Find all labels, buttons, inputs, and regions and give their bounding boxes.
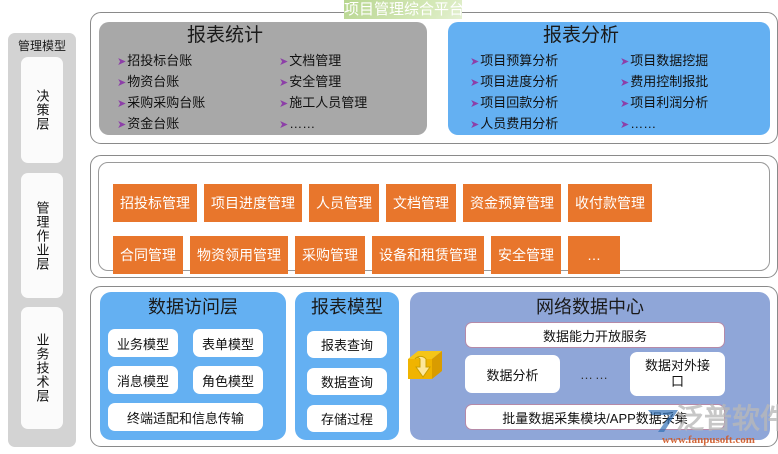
module-chip-personnel-management[interactable]: 人员管理 <box>309 184 379 222</box>
list-item-label: 项目预算分析 <box>480 50 558 71</box>
report-model-chip-data-query[interactable]: 数据查询 <box>307 368 387 395</box>
report-analysis-left-list: ➤ 项目预算分析 ➤ 项目进度分析 ➤ 项目回款分析 ➤ 人员费用分析 <box>470 50 558 134</box>
dal-chip-business-model[interactable]: 业务模型 <box>108 329 178 357</box>
list-item[interactable]: ➤ 项目利润分析 <box>620 92 708 113</box>
list-item[interactable]: ➤ 文档管理 <box>279 50 367 71</box>
sidebar-layer-decision-label: 决策层 <box>35 89 50 131</box>
list-item[interactable]: ➤ 采购采购台账 <box>117 92 205 113</box>
list-item[interactable]: ➤ 项目回款分析 <box>470 92 558 113</box>
arrow-bullet-icon: ➤ <box>470 115 479 136</box>
ndc-chip-data-capability-open-service[interactable]: 数据能力开放服务 <box>465 322 725 348</box>
module-chip-procurement-management[interactable]: 采购管理 <box>295 236 365 274</box>
list-item[interactable]: ➤ 安全管理 <box>279 71 367 92</box>
list-item-label: 项目进度分析 <box>480 71 558 92</box>
list-item-label: 项目数据挖掘 <box>630 50 708 71</box>
business-modules-row-1: 招投标管理 项目进度管理 人员管理 文档管理 资金预算管理 收付款管理 <box>113 184 652 222</box>
list-item[interactable]: ➤ 物资台账 <box>117 71 205 92</box>
report-model-chip-stored-procedure[interactable]: 存储过程 <box>307 405 387 432</box>
report-analysis-right-list: ➤ 项目数据挖掘 ➤ 费用控制报批 ➤ 项目利润分析 ➤ …… <box>620 50 708 134</box>
arrow-bullet-icon: ➤ <box>279 73 288 94</box>
report-statistics-left-list: ➤ 招投标台账 ➤ 物资台账 ➤ 采购采购台账 ➤ 资金台账 <box>117 50 205 134</box>
ndc-chip-data-analysis[interactable]: 数据分析 <box>465 355 560 393</box>
module-chip-fund-budget-management[interactable]: 资金预算管理 <box>463 184 561 222</box>
list-item[interactable]: ➤ 项目数据挖掘 <box>620 50 708 71</box>
list-item-label: …… <box>630 113 656 134</box>
arrow-bullet-icon: ➤ <box>117 52 126 73</box>
dal-chip-form-model[interactable]: 表单模型 <box>193 329 263 357</box>
arrow-bullet-icon: ➤ <box>470 94 479 115</box>
arrow-bullet-icon: ➤ <box>117 115 126 136</box>
list-item-label: 项目回款分析 <box>480 92 558 113</box>
list-item-label: 招投标台账 <box>127 50 192 71</box>
list-item-label: 项目利润分析 <box>630 92 708 113</box>
arrow-bullet-icon: ➤ <box>117 73 126 94</box>
module-chip-equipment-leasing-management[interactable]: 设备和租赁管理 <box>372 236 484 274</box>
sidebar-layer-management-operations[interactable]: 管理作业层 <box>21 173 63 298</box>
arrow-bullet-icon: ➤ <box>620 73 629 94</box>
list-item[interactable]: ➤ 人员费用分析 <box>470 113 558 134</box>
data-access-layer-heading: 数据访问层 <box>100 294 286 320</box>
list-item[interactable]: ➤ 招投标台账 <box>117 50 205 71</box>
ndc-chip-external-data-interface-line2: 口 <box>645 374 710 390</box>
list-item-label: 人员费用分析 <box>480 113 558 134</box>
list-item[interactable]: ➤ …… <box>620 113 708 134</box>
report-analysis-heading: 报表分析 <box>448 24 770 48</box>
arrow-bullet-icon: ➤ <box>117 94 126 115</box>
list-item[interactable]: ➤ 项目预算分析 <box>470 50 558 71</box>
arrow-bullet-icon: ➤ <box>620 115 629 136</box>
list-item-label: 物资台账 <box>127 71 179 92</box>
list-item[interactable]: ➤ 费用控制报批 <box>620 71 708 92</box>
arrow-bullet-icon: ➤ <box>279 115 288 136</box>
sidebar-layer-business-technology[interactable]: 业务技术层 <box>21 307 63 429</box>
list-item-label: 文档管理 <box>289 50 341 71</box>
platform-title-banner: 项目管理综合平台 <box>344 0 462 19</box>
module-chip-project-progress-management[interactable]: 项目进度管理 <box>204 184 302 222</box>
network-data-center-heading: 网络数据中心 <box>410 294 770 320</box>
report-model-heading: 报表模型 <box>295 294 399 320</box>
arrow-bullet-icon: ➤ <box>620 52 629 73</box>
module-chip-contract-management[interactable]: 合同管理 <box>113 236 183 274</box>
module-chip-payment-management[interactable]: 收付款管理 <box>568 184 652 222</box>
dal-chip-role-model[interactable]: 角色模型 <box>193 366 263 394</box>
sidebar-layer-decision[interactable]: 决策层 <box>21 57 63 163</box>
arrow-bullet-icon: ➤ <box>470 73 479 94</box>
ndc-chip-external-data-interface[interactable]: 数据对外接 口 <box>630 352 725 396</box>
list-item-label: 采购采购台账 <box>127 92 205 113</box>
down-arrow-3d-icon <box>402 345 446 389</box>
business-modules-row-2: 合同管理 物资领用管理 采购管理 设备和租赁管理 安全管理 … <box>113 236 620 274</box>
dal-chip-terminal-adaptation-and-information-transmission[interactable]: 终端适配和信息传输 <box>108 403 263 431</box>
module-chip-document-management[interactable]: 文档管理 <box>386 184 456 222</box>
dal-chip-message-model[interactable]: 消息模型 <box>108 366 178 394</box>
list-item-label: 施工人员管理 <box>289 92 367 113</box>
list-item[interactable]: ➤ 项目进度分析 <box>470 71 558 92</box>
sidebar-layer-management-operations-label: 管理作业层 <box>35 201 50 271</box>
list-item[interactable]: ➤ …… <box>279 113 367 134</box>
list-item-label: 安全管理 <box>289 71 341 92</box>
ndc-chip-external-data-interface-line1: 数据对外接 <box>645 358 710 374</box>
arrow-bullet-icon: ➤ <box>620 94 629 115</box>
module-chip-safety-management[interactable]: 安全管理 <box>491 236 561 274</box>
arrow-bullet-icon: ➤ <box>470 52 479 73</box>
list-item[interactable]: ➤ 施工人员管理 <box>279 92 367 113</box>
management-model-sidebar: 管理模型 决策层 管理作业层 业务技术层 <box>8 33 76 447</box>
report-analysis-panel: 报表分析 ➤ 项目预算分析 ➤ 项目进度分析 ➤ 项目回款分析 ➤ 人员费用分析… <box>448 22 770 135</box>
arrow-bullet-icon: ➤ <box>279 52 288 73</box>
arrow-bullet-icon: ➤ <box>279 94 288 115</box>
list-item-label: …… <box>289 113 315 134</box>
sidebar-title: 管理模型 <box>8 37 76 54</box>
list-item[interactable]: ➤ 资金台账 <box>117 113 205 134</box>
list-item-label: 费用控制报批 <box>630 71 708 92</box>
ndc-ellipsis: …… <box>565 355 625 393</box>
report-model-chip-report-query[interactable]: 报表查询 <box>307 331 387 358</box>
report-statistics-heading: 报表统计 <box>99 24 427 48</box>
module-chip-bidding-management[interactable]: 招投标管理 <box>113 184 197 222</box>
report-statistics-panel: 报表统计 ➤ 招投标台账 ➤ 物资台账 ➤ 采购采购台账 ➤ 资金台账 ➤ 文档… <box>99 22 427 135</box>
list-item-label: 资金台账 <box>127 113 179 134</box>
module-chip-more[interactable]: … <box>568 236 620 274</box>
sidebar-layer-business-technology-label: 业务技术层 <box>35 333 50 403</box>
ndc-chip-batch-data-collection[interactable]: 批量数据采集模块/APP数据采集 <box>465 404 725 430</box>
module-chip-material-requisition-management[interactable]: 物资领用管理 <box>190 236 288 274</box>
report-statistics-right-list: ➤ 文档管理 ➤ 安全管理 ➤ 施工人员管理 ➤ …… <box>279 50 367 134</box>
